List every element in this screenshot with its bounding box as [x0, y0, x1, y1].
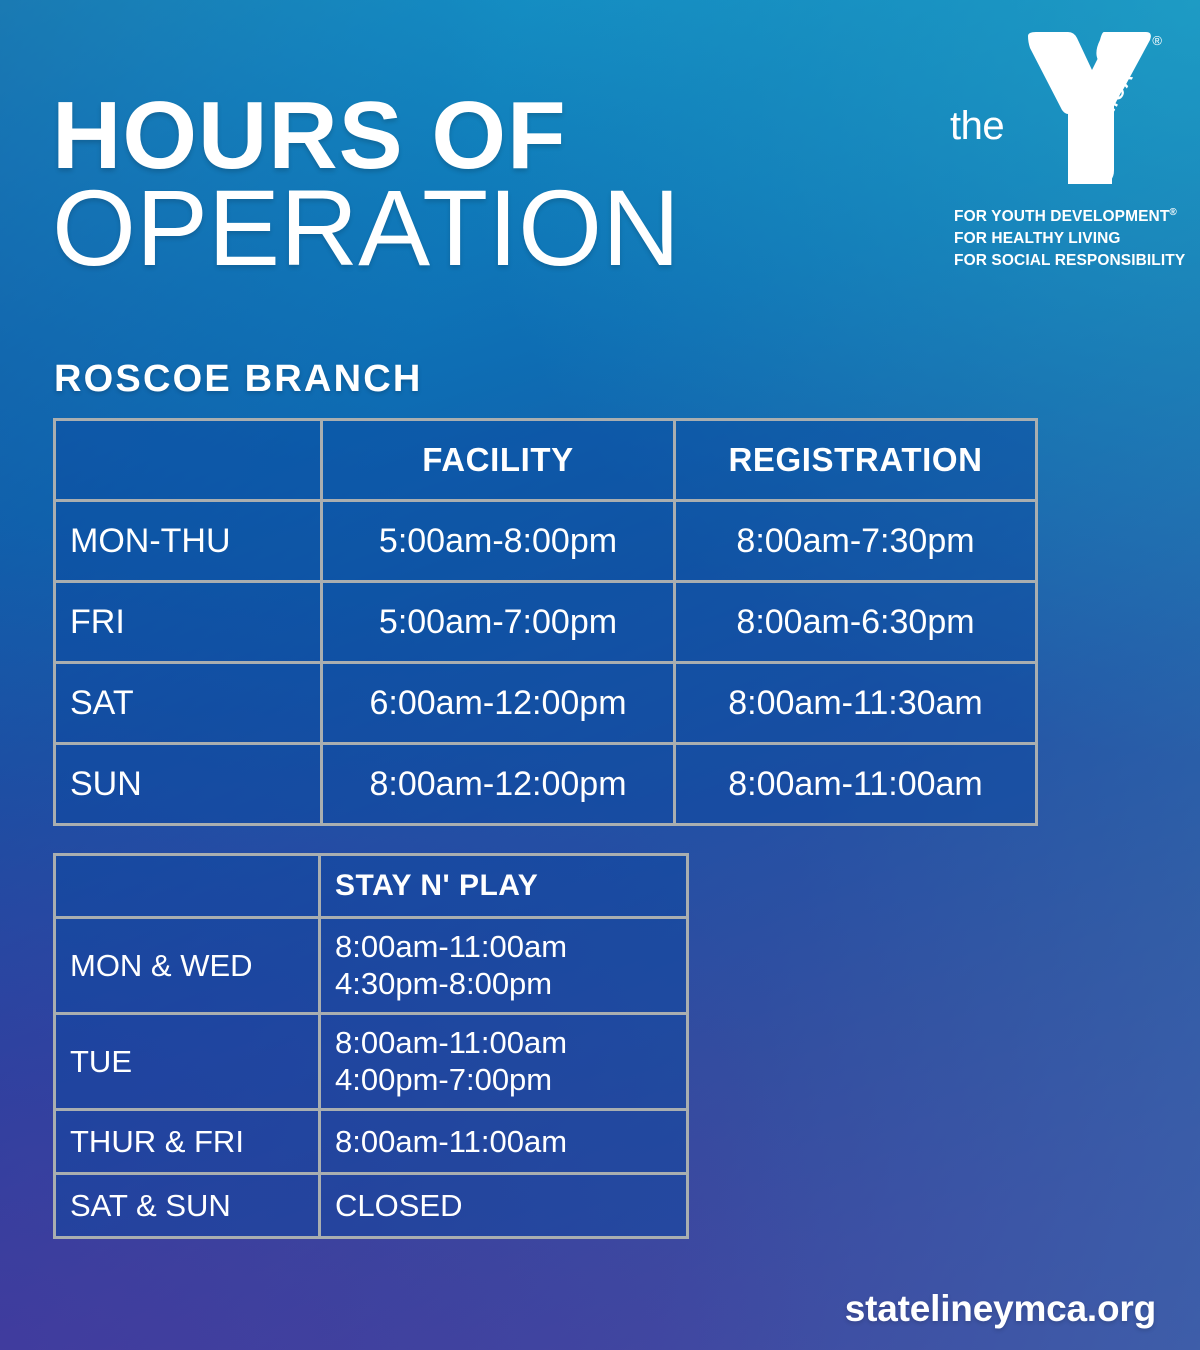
- ymca-y-icon: [1026, 30, 1154, 188]
- poster-canvas: HOURS OF OPERATION ROSCOE BRANCH the ® Y…: [0, 0, 1200, 1350]
- ymca-taglines: FOR YOUTH DEVELOPMENT® FOR HEALTHY LIVIN…: [954, 206, 1169, 272]
- table-row: THUR & FRI 8:00am-11:00am: [55, 1110, 688, 1174]
- tagline-youth-development: FOR YOUTH DEVELOPMENT®: [954, 206, 1169, 228]
- cell-facility-hours: 6:00am-12:00pm: [322, 663, 675, 744]
- cell-day: SUN: [55, 744, 322, 825]
- cell-registration-hours: 8:00am-11:00am: [675, 744, 1037, 825]
- tagline-healthy-living: FOR HEALTHY LIVING: [954, 228, 1169, 250]
- hours-stack: 8:00am-11:00am 4:30pm-8:00pm: [335, 929, 672, 1002]
- tagline-social-responsibility: FOR SOCIAL RESPONSIBILITY: [954, 250, 1169, 272]
- website-url[interactable]: statelineymca.org: [845, 1288, 1156, 1330]
- cell-stay-n-play-hours: 8:00am-11:00am 4:30pm-8:00pm: [320, 918, 688, 1014]
- table-row: MON & WED 8:00am-11:00am 4:30pm-8:00pm: [55, 918, 688, 1014]
- cell-day: SAT: [55, 663, 322, 744]
- hours-stack: 8:00am-11:00am 4:00pm-7:00pm: [335, 1025, 672, 1098]
- stay-n-play-table: STAY N' PLAY MON & WED 8:00am-11:00am 4:…: [53, 853, 689, 1239]
- cell-facility-hours: 8:00am-12:00pm: [322, 744, 675, 825]
- cell-registration-hours: 8:00am-11:30am: [675, 663, 1037, 744]
- header-registration: REGISTRATION: [675, 420, 1037, 501]
- cell-day: MON & WED: [55, 918, 320, 1014]
- tagline-registered-icon: ®: [1169, 207, 1176, 218]
- table-header-row: FACILITY REGISTRATION: [55, 420, 1037, 501]
- cell-day: TUE: [55, 1014, 320, 1110]
- cell-registration-hours: 8:00am-6:30pm: [675, 582, 1037, 663]
- page-title: HOURS OF OPERATION: [52, 92, 912, 282]
- header-blank: [55, 420, 322, 501]
- hours-line: 8:00am-11:00am: [335, 929, 672, 966]
- header-blank: [55, 855, 320, 918]
- table-row: MON-THU 5:00am-8:00pm 8:00am-7:30pm: [55, 501, 1037, 582]
- table-row: FRI 5:00am-7:00pm 8:00am-6:30pm: [55, 582, 1037, 663]
- hours-line: 4:00pm-7:00pm: [335, 1062, 672, 1099]
- hours-line: 8:00am-11:00am: [335, 1025, 672, 1062]
- header-stay-n-play: STAY N' PLAY: [320, 855, 688, 918]
- ymca-logo-mark: the ® YMCA: [942, 30, 1162, 190]
- facility-hours-table: FACILITY REGISTRATION MON-THU 5:00am-8:0…: [53, 418, 1038, 826]
- cell-stay-n-play-hours: 8:00am-11:00am 4:00pm-7:00pm: [320, 1014, 688, 1110]
- cell-day: SAT & SUN: [55, 1174, 320, 1238]
- cell-day: THUR & FRI: [55, 1110, 320, 1174]
- ymca-the-text: the: [950, 106, 1004, 146]
- cell-facility-hours: 5:00am-8:00pm: [322, 501, 675, 582]
- cell-day: MON-THU: [55, 501, 322, 582]
- table-header-row: STAY N' PLAY: [55, 855, 688, 918]
- cell-registration-hours: 8:00am-7:30pm: [675, 501, 1037, 582]
- table-row: SAT 6:00am-12:00pm 8:00am-11:30am: [55, 663, 1037, 744]
- title-line-operation: OPERATION: [52, 174, 912, 282]
- cell-stay-n-play-hours: 8:00am-11:00am: [320, 1110, 688, 1174]
- table-row: TUE 8:00am-11:00am 4:00pm-7:00pm: [55, 1014, 688, 1110]
- cell-stay-n-play-status: CLOSED: [320, 1174, 688, 1238]
- table-row: SAT & SUN CLOSED: [55, 1174, 688, 1238]
- table-row: SUN 8:00am-12:00pm 8:00am-11:00am: [55, 744, 1037, 825]
- hours-line: 4:30pm-8:00pm: [335, 966, 672, 1003]
- header-facility: FACILITY: [322, 420, 675, 501]
- cell-facility-hours: 5:00am-7:00pm: [322, 582, 675, 663]
- branch-name: ROSCOE BRANCH: [54, 358, 423, 401]
- tagline-text: FOR YOUTH DEVELOPMENT: [954, 208, 1169, 225]
- cell-day: FRI: [55, 582, 322, 663]
- registered-trademark-icon: ®: [1152, 34, 1162, 47]
- ymca-logo: the ® YMCA FOR YOUTH DEVELOPMENT® FOR HE…: [942, 30, 1162, 280]
